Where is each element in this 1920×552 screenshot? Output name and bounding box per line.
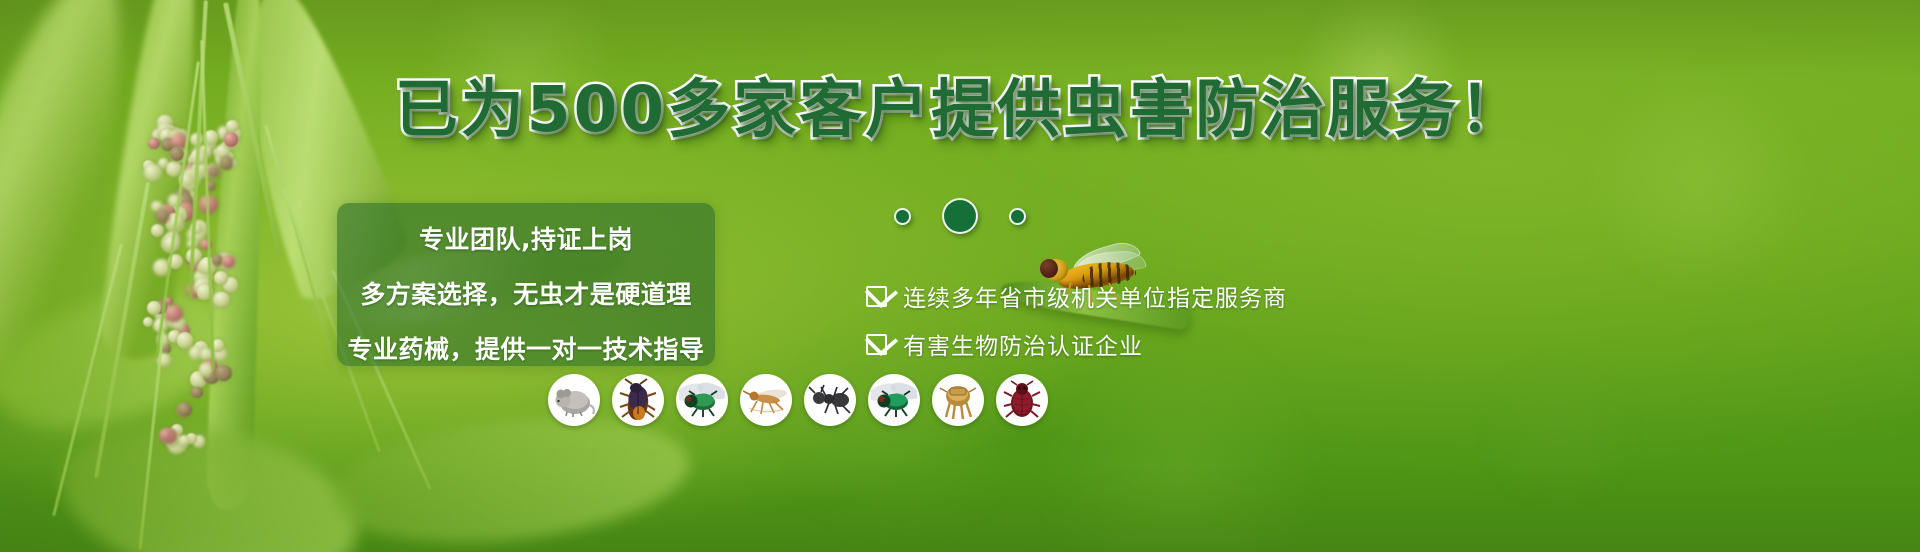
plant-bud: [160, 429, 172, 441]
bedbug-icon[interactable]: [996, 374, 1048, 426]
pest-control-promo-banner: 已为500多家客户提供虫害防治服务！ 专业团队,持证上岗 多方案选择，无虫才是硬…: [0, 0, 1920, 552]
plant-seedhead: [140, 130, 360, 460]
claim-line-3: 专业药械，提供一对一技术指导: [337, 330, 715, 366]
plant-bud: [215, 365, 231, 381]
plant-bud: [165, 305, 183, 323]
certification-checklist: 连续多年省市级机关单位指定服务商 有害生物防治认证企业: [866, 272, 1486, 368]
plant-bud: [177, 332, 194, 349]
dot-small-right: [1009, 208, 1026, 225]
pest-type-icon-strip: [548, 374, 1048, 426]
dot-small-left: [894, 208, 911, 225]
checklist-item-label: 连续多年省市级机关单位指定服务商: [903, 279, 1287, 313]
checklist-item: 连续多年省市级机关单位指定服务商: [866, 272, 1486, 320]
mouse-icon[interactable]: [548, 374, 600, 426]
plant-bud: [214, 292, 230, 308]
plant-bud: [143, 317, 153, 327]
banner-headline: 已为500多家客户提供虫害防治服务！: [0, 78, 1920, 141]
greenbottle-fly-icon[interactable]: [868, 374, 920, 426]
plant-bud: [170, 147, 184, 161]
housefly-icon[interactable]: [676, 374, 728, 426]
plant-bud: [214, 271, 228, 285]
checkbox-check-icon: [866, 334, 887, 355]
plant-bud: [179, 435, 190, 446]
checklist-item-label: 有害生物防治认证企业: [903, 327, 1143, 361]
checkbox-check-icon: [866, 286, 887, 307]
plant-bud: [191, 387, 203, 399]
claim-line-1: 专业团队,持证上岗: [337, 220, 715, 256]
checklist-item: 有害生物防治认证企业: [866, 320, 1486, 368]
plant-bud: [144, 164, 162, 182]
banner-headline-text: 已为500多家客户提供虫害防治服务！: [395, 78, 1526, 141]
decorative-dots-row: [0, 198, 1920, 234]
plant-bud: [220, 156, 234, 170]
ant-icon[interactable]: [804, 374, 856, 426]
claims-panel: 专业团队,持证上岗 多方案选择，无虫才是硬道理 专业药械，提供一对一技术指导: [337, 203, 715, 366]
flea-icon[interactable]: [932, 374, 984, 426]
cockroach-icon[interactable]: [612, 374, 664, 426]
mosquito-icon[interactable]: [740, 374, 792, 426]
dot-large-center: [942, 198, 978, 234]
plant-bud: [207, 165, 221, 179]
plant-bud: [178, 403, 191, 416]
claim-line-2: 多方案选择，无虫才是硬道理: [337, 275, 715, 311]
